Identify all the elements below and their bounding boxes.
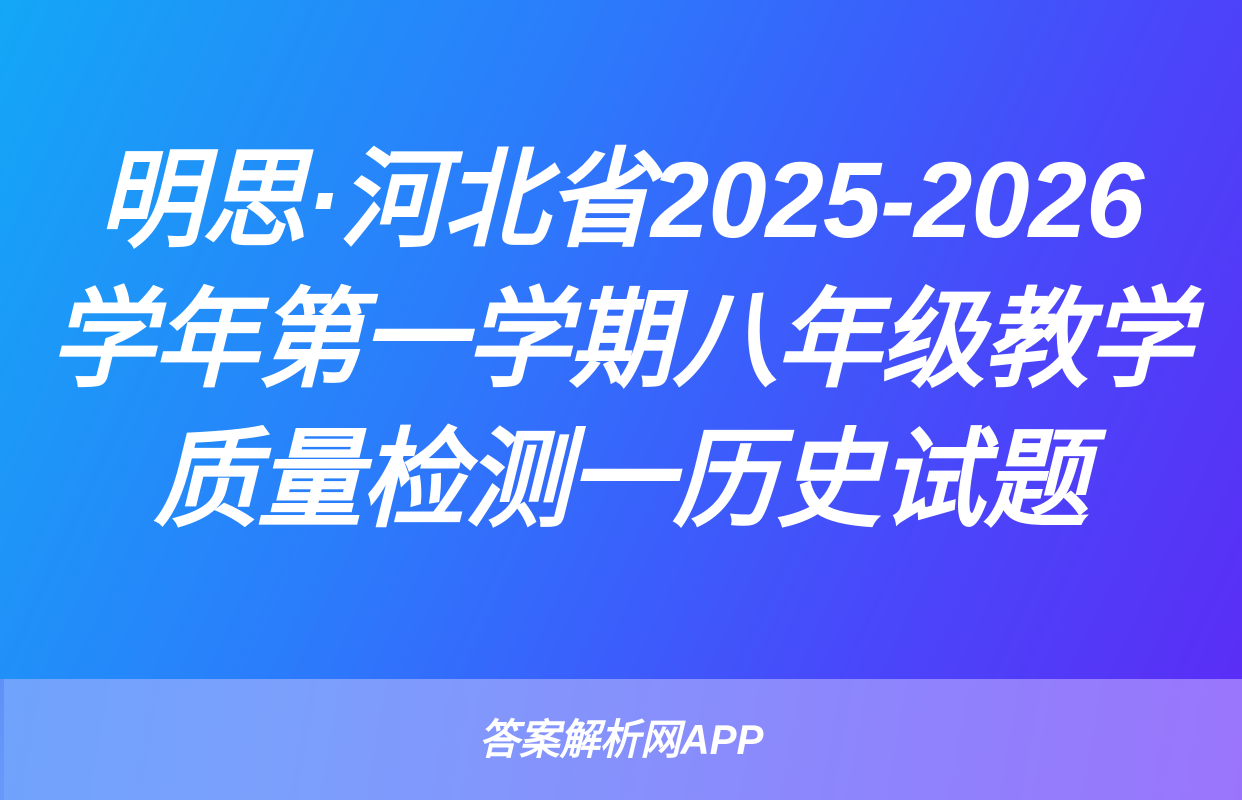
hero-title-block: 明思·河北省2025-2026 学年第一学期八年级教学 质量检测一历史试题 [0, 0, 1242, 679]
hero-title-line-1: 明思·河北省2025-2026 [98, 130, 1143, 270]
hero-title-line-3: 质量检测一历史试题 [154, 410, 1088, 550]
app-brand-label: 答案解析网APP [479, 716, 764, 764]
hero-title-line-2: 学年第一学期八年级教学 [50, 270, 1192, 410]
banner-canvas: 明思·河北省2025-2026 学年第一学期八年级教学 质量检测一历史试题 答案… [0, 0, 1242, 800]
footer-watermark-band: 答案解析网APP [0, 679, 1242, 800]
